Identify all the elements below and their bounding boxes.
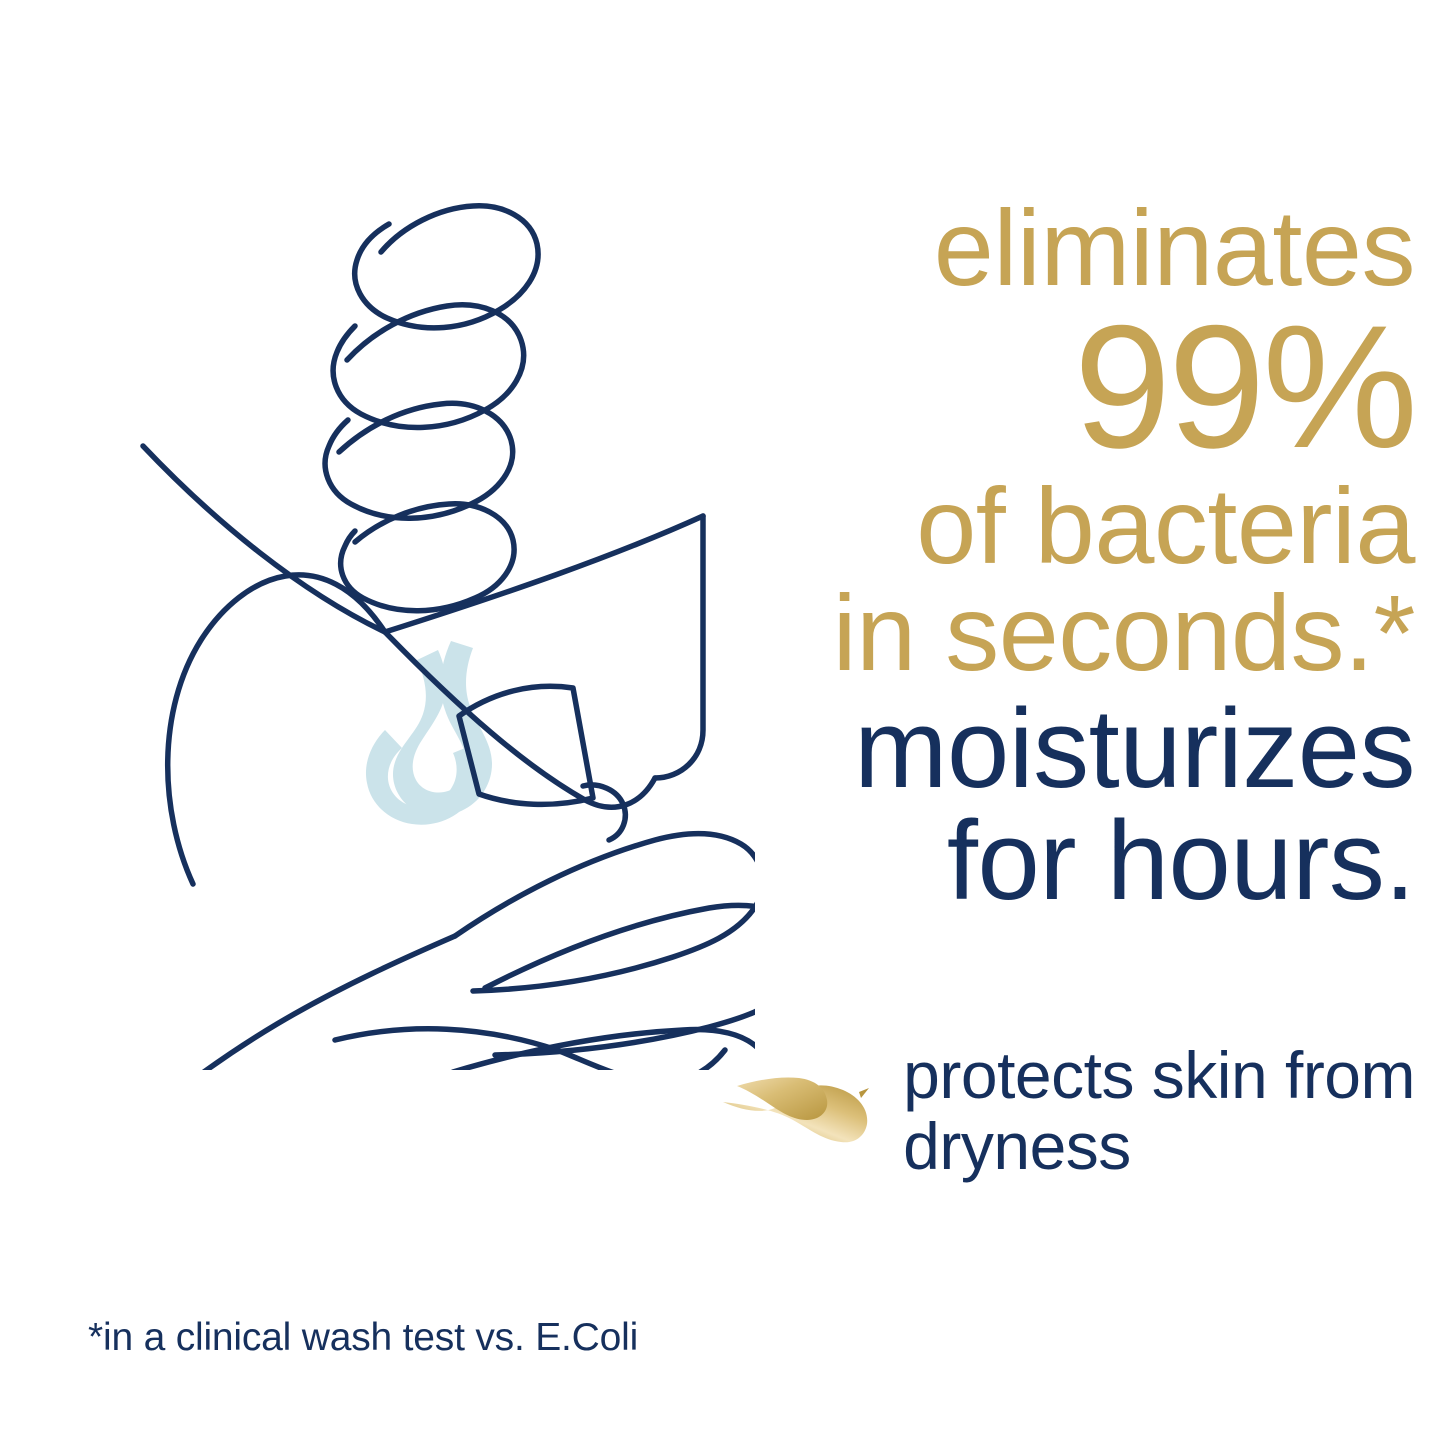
benefit-text: protects skin from dryness bbox=[903, 1040, 1415, 1181]
benefit-line-1: protects skin from bbox=[903, 1040, 1415, 1111]
headline-line-of-bacteria: of bacteria bbox=[470, 474, 1415, 578]
dove-logo-icon bbox=[719, 1058, 869, 1154]
benefit-line-2: dryness bbox=[903, 1111, 1415, 1182]
dove-beak bbox=[859, 1088, 869, 1098]
headline-copy-block: eliminates 99% of bacteria in seconds.* … bbox=[470, 196, 1415, 914]
headline-line-for-hours: for hours. bbox=[470, 807, 1415, 915]
headline-line-moisturizes: moisturizes bbox=[470, 695, 1415, 803]
headline-line-in-seconds: in seconds.* bbox=[470, 581, 1415, 685]
product-claim-poster: eliminates 99% of bacteria in seconds.* … bbox=[0, 0, 1445, 1445]
headline-line-percentage: 99% bbox=[470, 304, 1415, 472]
footnote-disclaimer: *in a clinical wash test vs. E.Coli bbox=[88, 1316, 638, 1360]
headline-line-eliminates: eliminates bbox=[470, 196, 1415, 300]
benefit-row: protects skin from dryness bbox=[470, 1040, 1415, 1181]
